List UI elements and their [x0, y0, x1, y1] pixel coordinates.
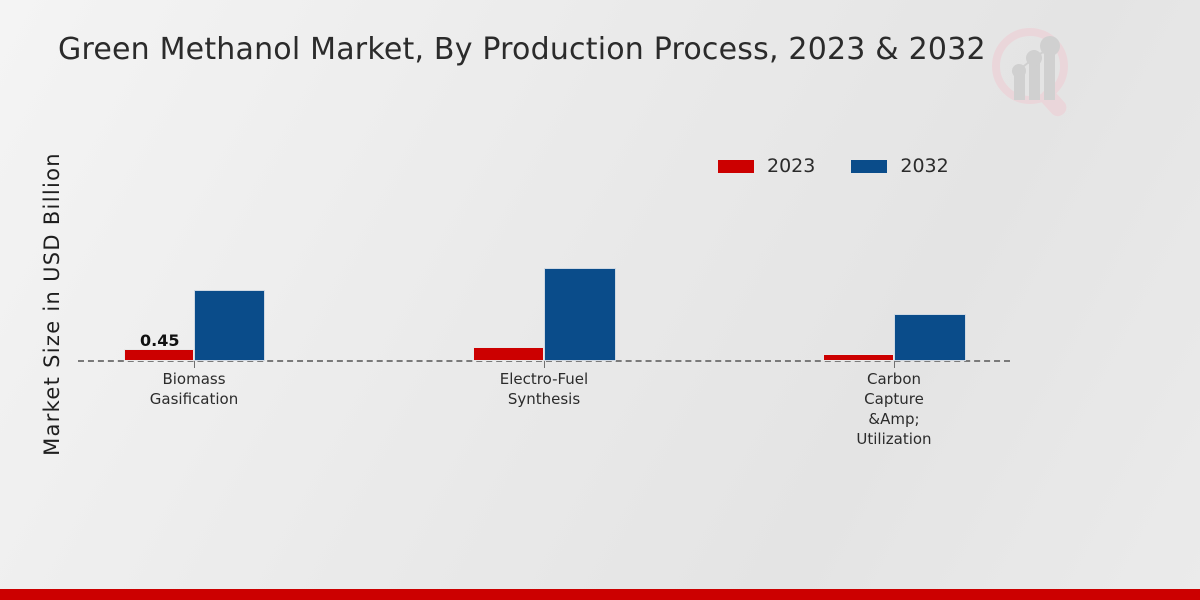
bar-2023-biomass-gasification[interactable]: [124, 349, 194, 361]
x-label-line-1: Electro-Fuel: [444, 369, 644, 389]
x-label-electro-fuel-synthesis: Electro-Fuel Synthesis: [444, 369, 644, 409]
bar-2032-biomass-gasification[interactable]: [194, 290, 265, 361]
x-label-line-2: Synthesis: [444, 389, 644, 409]
x-tick-carbon-capture-utilization: [894, 361, 895, 368]
bar-value-label-biomass-2023: 0.45: [140, 331, 179, 350]
bar-2032-electro-fuel-synthesis[interactable]: [544, 268, 616, 361]
bar-2032-carbon-capture-utilization[interactable]: [894, 314, 966, 361]
x-label-biomass-gasification: Biomass Gasification: [94, 369, 294, 409]
x-label-line-1: Carbon: [794, 369, 994, 389]
bar-2023-carbon-capture-utilization[interactable]: [823, 354, 894, 361]
x-label-line-2: Gasification: [94, 389, 294, 409]
plot-area: 0.45 Biomass Gasification Electro-Fuel S…: [0, 0, 1200, 600]
x-label-line-1: Biomass: [94, 369, 294, 389]
x-label-line-2: Capture: [794, 389, 994, 409]
x-label-line-4: Utilization: [794, 429, 994, 449]
x-label-line-3: &Amp;: [794, 409, 994, 429]
chart-container: Green Methanol Market, By Production Pro…: [0, 0, 1200, 600]
bar-2023-electro-fuel-synthesis[interactable]: [473, 347, 544, 361]
x-tick-biomass-gasification: [194, 361, 195, 368]
x-tick-electro-fuel-synthesis: [544, 361, 545, 368]
x-label-carbon-capture-utilization: Carbon Capture &Amp; Utilization: [794, 369, 994, 449]
bottom-accent-bar: [0, 589, 1200, 600]
